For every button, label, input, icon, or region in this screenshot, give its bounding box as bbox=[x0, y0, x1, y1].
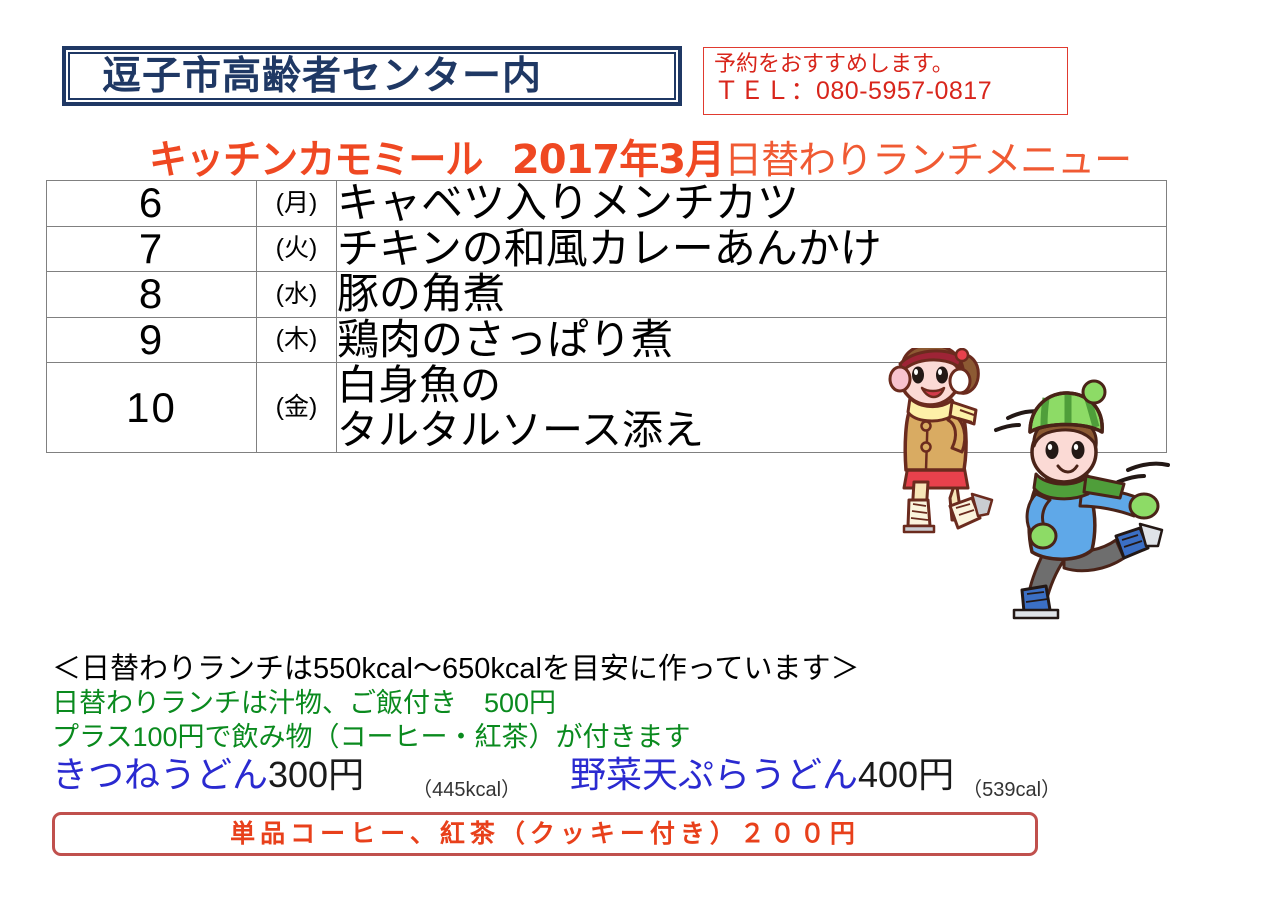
table-row: 10 (金) 白身魚の タルタルソース添え bbox=[47, 363, 1167, 453]
menu-poster: 逗子市高齢者センター内 予約をおすすめします。 ＴＥＬ：080-5957-081… bbox=[0, 0, 1280, 904]
set-info-note: 日替わりランチは汁物、ご飯付き 500円 bbox=[52, 687, 1192, 720]
table-row: 8 (水) 豚の角煮 bbox=[47, 272, 1167, 318]
menu-day: 9 bbox=[47, 317, 257, 363]
notes-block: ＜日替わりランチは550kcal～650kcalを目安に作っています＞ 日替わり… bbox=[52, 652, 1192, 754]
shop-name: キッチンカモミール bbox=[149, 127, 482, 185]
drink-info-note: プラス100円で飲み物（コーヒー・紅茶）が付きます bbox=[52, 721, 1192, 754]
menu-dayofweek: (水) bbox=[257, 272, 337, 318]
udon-price-row: きつねうどん 300円 （445kcal） 野菜天ぷらうどん 400円 （539… bbox=[52, 757, 1212, 807]
reservation-note: 予約をおすすめします。 bbox=[714, 51, 1067, 77]
tempura-udon-entry: 野菜天ぷらうどん 400円 （539cal） bbox=[570, 757, 1061, 793]
table-row: 7 (火) チキンの和風カレーあんかけ bbox=[47, 226, 1167, 272]
menu-period: 2017年3月 bbox=[500, 127, 724, 185]
coffee-price-text: 単品コーヒー、紅茶（クッキー付き）２００円 bbox=[230, 822, 860, 847]
menu-item: チキンの和風カレーあんかけ bbox=[337, 226, 1167, 272]
header: 逗子市高齢者センター内 予約をおすすめします。 ＴＥＬ：080-5957-081… bbox=[0, 0, 1280, 130]
kcal-range-note: ＜日替わりランチは550kcal～650kcalを目安に作っています＞ bbox=[52, 652, 1192, 687]
menu-item: 豚の角煮 bbox=[337, 272, 1167, 318]
venue-box: 逗子市高齢者センター内 bbox=[62, 46, 682, 106]
kitsune-udon-price: 300円 bbox=[268, 757, 364, 793]
telephone-number: ＴＥＬ：080-5957-0817 bbox=[714, 77, 1067, 107]
kitsune-udon-entry: きつねうどん 300円 （445kcal） bbox=[52, 757, 521, 793]
daily-menu-table: 6 (月) キャベツ入りメンチカツ 7 (火) チキンの和風カレーあんかけ 8 … bbox=[46, 180, 1167, 453]
venue-name: 逗子市高齢者センター内 bbox=[66, 57, 542, 96]
menu-item: キャベツ入りメンチカツ bbox=[337, 181, 1167, 227]
menu-item: 鶏肉のさっぱり煮 bbox=[337, 317, 1167, 363]
page-title: キッチンカモミール 2017年3月 日替わりランチメニュー bbox=[0, 127, 1280, 175]
menu-day: 8 bbox=[47, 272, 257, 318]
table-row: 9 (木) 鶏肉のさっぱり煮 bbox=[47, 317, 1167, 363]
tempura-udon-kcal: （539cal） bbox=[962, 780, 1061, 800]
menu-day: 10 bbox=[47, 363, 257, 453]
menu-dayofweek: (金) bbox=[257, 363, 337, 453]
reservation-box: 予約をおすすめします。 ＴＥＬ：080-5957-0817 bbox=[703, 47, 1068, 115]
menu-dayofweek: (月) bbox=[257, 181, 337, 227]
kitsune-udon-kcal: （445kcal） bbox=[412, 780, 521, 800]
table-row: 6 (月) キャベツ入りメンチカツ bbox=[47, 181, 1167, 227]
menu-dayofweek: (木) bbox=[257, 317, 337, 363]
menu-dayofweek: (火) bbox=[257, 226, 337, 272]
menu-day: 7 bbox=[47, 226, 257, 272]
menu-day: 6 bbox=[47, 181, 257, 227]
coffee-price-banner: 単品コーヒー、紅茶（クッキー付き）２００円 bbox=[52, 812, 1038, 856]
tempura-udon-price: 400円 bbox=[858, 757, 954, 793]
tempura-udon-name: 野菜天ぷらうどん bbox=[570, 757, 858, 793]
kitsune-udon-name: きつねうどん bbox=[52, 757, 268, 793]
menu-title-suffix: 日替わりランチメニュー bbox=[724, 129, 1131, 184]
menu-item: 白身魚の タルタルソース添え bbox=[337, 363, 1167, 453]
